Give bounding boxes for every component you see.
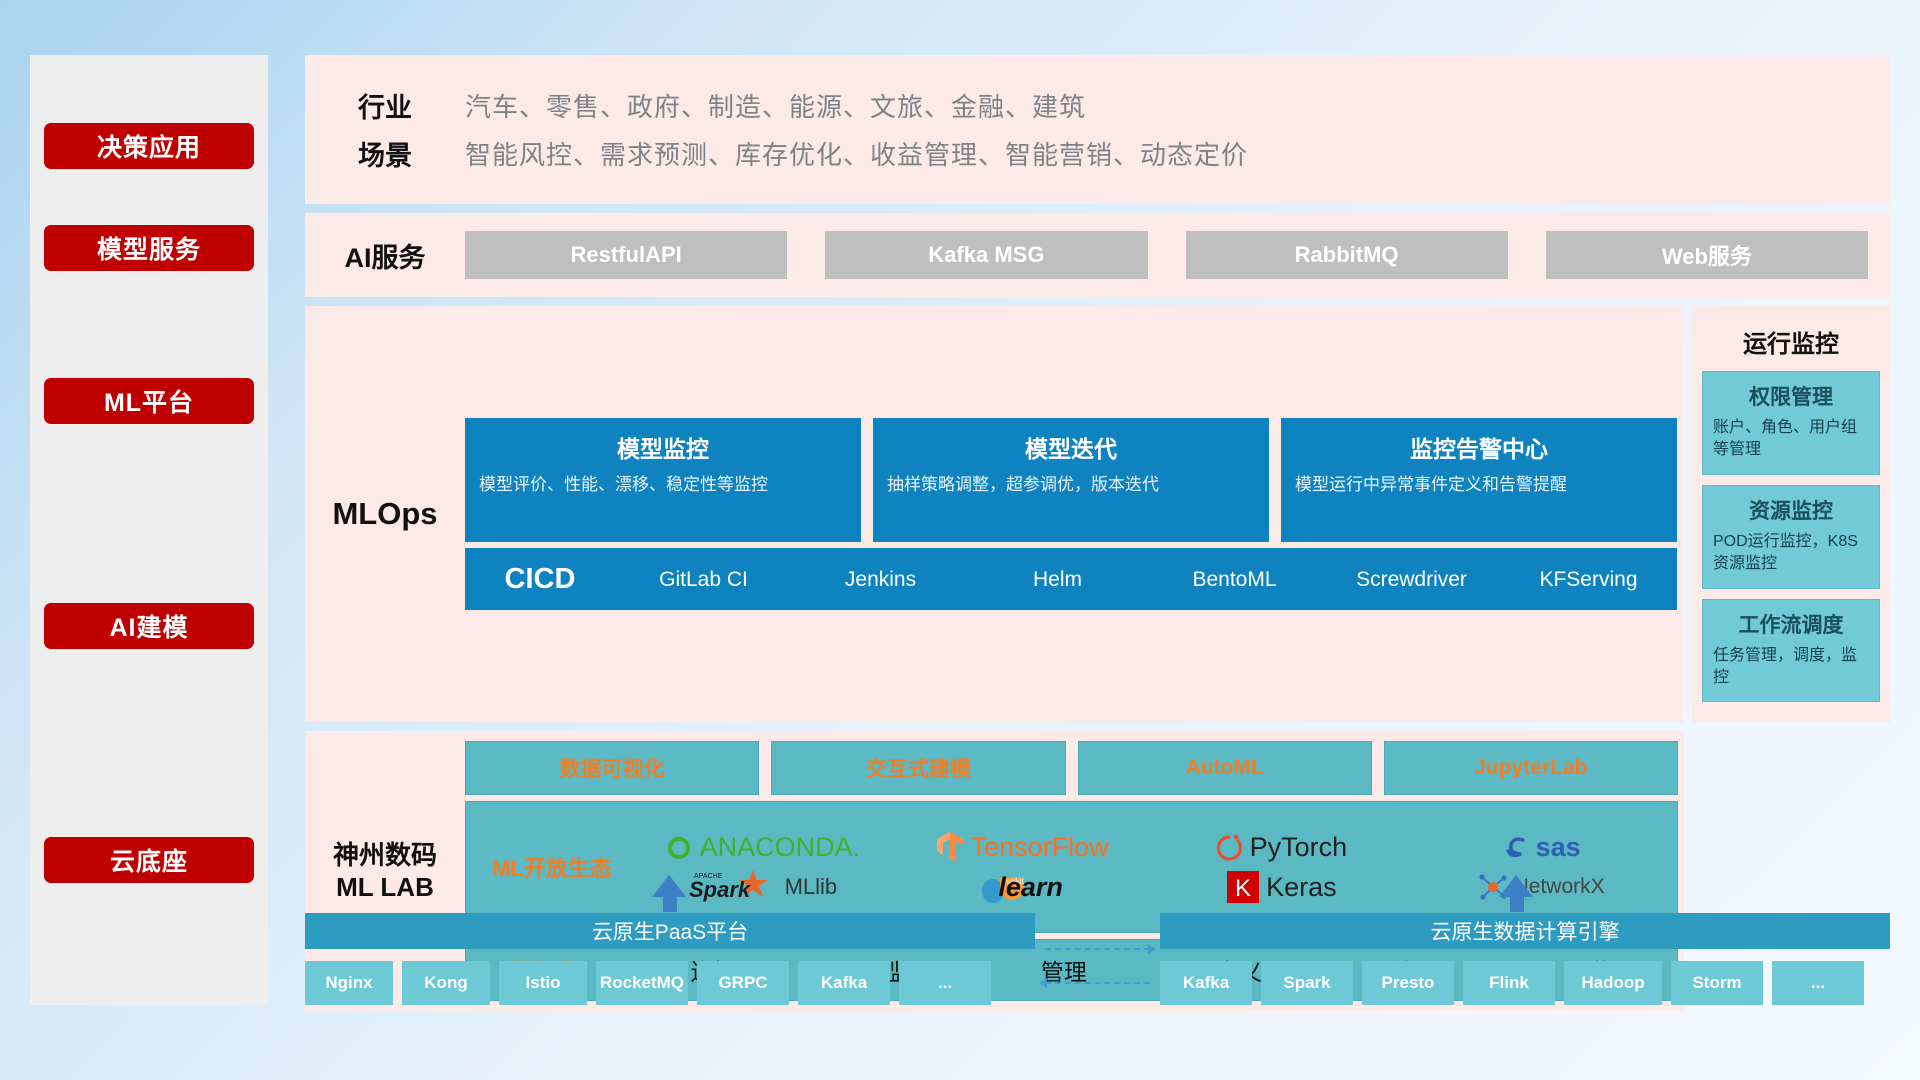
- dash-arrow-left-head: [1039, 978, 1047, 988]
- card-desc: 模型评价、性能、漂移、稳定性等监控: [479, 473, 847, 498]
- layer-rail: 决策应用 模型服务 ML平台 AI建模 云底座: [30, 55, 268, 1005]
- engine-group: 云原生数据计算引擎 Kafka Spark Presto Flink Hadoo…: [1160, 913, 1890, 1005]
- card-title: 监控告警中心: [1295, 430, 1663, 464]
- mlops-card-model-iteration[interactable]: 模型迭代 抽样策略调整，超参调优，版本迭代: [873, 418, 1269, 542]
- paas-chip-more[interactable]: ...: [899, 961, 991, 1005]
- anaconda-icon: [664, 832, 694, 862]
- card-title: 模型监控: [479, 430, 847, 464]
- pytorch-logo: PyTorch: [1216, 831, 1348, 863]
- paas-chip-nginx[interactable]: Nginx: [305, 961, 393, 1005]
- tab-interactive-modeling[interactable]: 交互式建模: [771, 741, 1065, 795]
- tensorflow-logo: TensorFlow: [935, 830, 1109, 864]
- ai-service-chips: RestfulAPI Kafka MSG RabbitMQ Web服务: [465, 231, 1890, 279]
- industry-value: 汽车、零售、政府、制造、能源、文旅、金融、建筑: [465, 87, 1086, 124]
- mlops-band: MLOps 模型监控 模型评价、性能、漂移、稳定性等监控 模型迭代 抽样策略调整…: [305, 306, 1683, 722]
- paas-title: 云原生PaaS平台: [305, 913, 1035, 949]
- mlops-label: MLOps: [305, 496, 465, 532]
- sas-icon: [1502, 833, 1530, 861]
- mlops-card-model-monitoring[interactable]: 模型监控 模型评价、性能、漂移、稳定性等监控: [465, 418, 861, 542]
- ai-service-label: AI服务: [305, 236, 465, 275]
- paas-chip-grpc[interactable]: GRPC: [697, 961, 789, 1005]
- scenario-label: 场景: [305, 134, 465, 173]
- tab-automl[interactable]: AutoML: [1078, 741, 1372, 795]
- monitor-card-permissions[interactable]: 权限管理 账户、角色、用户组等管理: [1702, 371, 1880, 475]
- dash-arrow-right-head: [1148, 944, 1156, 954]
- card-desc: 抽样策略调整，超参调优，版本迭代: [887, 473, 1255, 498]
- industry-row: 行业 汽车、零售、政府、制造、能源、文旅、金融、建筑: [305, 86, 1890, 125]
- paas-chip-istio[interactable]: Istio: [499, 961, 587, 1005]
- engine-chip-flink[interactable]: Flink: [1463, 961, 1555, 1005]
- cloud-foundation: 云原生PaaS平台 Nginx Kong Istio RocketMQ GRPC…: [305, 875, 1890, 1025]
- pytorch-icon: [1216, 831, 1244, 863]
- engine-chip-storm[interactable]: Storm: [1671, 961, 1763, 1005]
- industry-label: 行业: [305, 86, 465, 125]
- engine-chip-kafka[interactable]: Kafka: [1160, 961, 1252, 1005]
- card-title: 权限管理: [1713, 381, 1869, 411]
- rail-item-ai-modeling[interactable]: AI建模: [44, 603, 254, 649]
- service-chip-kafka-msg[interactable]: Kafka MSG: [825, 231, 1147, 279]
- scenario-row: 场景 智能风控、需求预测、库存优化、收益管理、智能营销、动态定价: [305, 134, 1890, 173]
- sas-logo: sas: [1502, 832, 1581, 863]
- anaconda-label: ANACONDA.: [700, 832, 861, 863]
- architecture-diagram: 决策应用 模型服务 ML平台 AI建模 云底座 行业 汽车、零售、政府、制造、能…: [0, 0, 1920, 1080]
- anaconda-logo: ANACONDA.: [664, 832, 861, 863]
- cicd-item-screwdriver[interactable]: Screwdriver: [1323, 569, 1500, 590]
- tensorflow-icon: [935, 830, 965, 864]
- arrow-up-engine-head: [1499, 875, 1533, 897]
- ml-lab-label-line1: 神州数码: [305, 839, 465, 872]
- rail-item-model-service[interactable]: 模型服务: [44, 225, 254, 271]
- monitor-card-workflow[interactable]: 工作流调度 任务管理，调度，监控: [1702, 599, 1880, 703]
- arrow-up-paas-head: [652, 875, 686, 897]
- service-chip-rabbitmq[interactable]: RabbitMQ: [1186, 231, 1508, 279]
- rail-item-cloud-base[interactable]: 云底座: [44, 837, 254, 883]
- ml-lab-tabs: 数据可视化 交互式建模 AutoML JupyterLab: [465, 741, 1678, 795]
- service-chip-restfulapi[interactable]: RestfulAPI: [465, 231, 787, 279]
- card-title: 工作流调度: [1713, 609, 1869, 639]
- engine-chip-more[interactable]: ...: [1772, 961, 1864, 1005]
- mlops-content: 模型监控 模型评价、性能、漂移、稳定性等监控 模型迭代 抽样策略调整，超参调优，…: [465, 418, 1683, 610]
- sas-label: sas: [1536, 832, 1581, 863]
- dash-arrow-right: [1045, 948, 1150, 950]
- paas-chip-kafka[interactable]: Kafka: [798, 961, 890, 1005]
- cicd-item-kfserving[interactable]: KFServing: [1500, 569, 1677, 590]
- card-desc: POD运行监控，K8S资源监控: [1713, 531, 1869, 576]
- service-chip-web[interactable]: Web服务: [1546, 231, 1868, 279]
- tab-data-visualization[interactable]: 数据可视化: [465, 741, 759, 795]
- engine-chip-hadoop[interactable]: Hadoop: [1564, 961, 1662, 1005]
- paas-chip-kong[interactable]: Kong: [402, 961, 490, 1005]
- rail-item-ml-platform[interactable]: ML平台: [44, 378, 254, 424]
- card-title: 资源监控: [1713, 495, 1869, 525]
- cicd-item-helm[interactable]: Helm: [969, 569, 1146, 590]
- tab-jupyterlab[interactable]: JupyterLab: [1384, 741, 1678, 795]
- paas-chip-rocketmq[interactable]: RocketMQ: [596, 961, 688, 1005]
- rail-item-decision-app[interactable]: 决策应用: [44, 123, 254, 169]
- runtime-monitor-title: 运行监控: [1702, 314, 1880, 371]
- paas-chips: Nginx Kong Istio RocketMQ GRPC Kafka ...: [305, 961, 1035, 1005]
- card-desc: 账户、角色、用户组等管理: [1713, 417, 1869, 462]
- arrow-up-paas-stem: [663, 896, 677, 912]
- cicd-item-jenkins[interactable]: Jenkins: [792, 569, 969, 590]
- cicd-item-bentoml[interactable]: BentoML: [1146, 569, 1323, 590]
- card-desc: 模型运行中异常事件定义和告警提醒: [1295, 473, 1663, 498]
- dash-arrow-left: [1045, 982, 1150, 984]
- cicd-item-gitlab-ci[interactable]: GitLab CI: [615, 569, 792, 590]
- engine-chips: Kafka Spark Presto Flink Hadoop Storm ..…: [1160, 961, 1890, 1005]
- card-title: 模型迭代: [887, 430, 1255, 464]
- ml-platform-row: MLOps 模型监控 模型评价、性能、漂移、稳定性等监控 模型迭代 抽样策略调整…: [305, 306, 1890, 722]
- mlops-cards: 模型监控 模型评价、性能、漂移、稳定性等监控 模型迭代 抽样策略调整，超参调优，…: [465, 418, 1677, 542]
- ai-service-band: AI服务 RestfulAPI Kafka MSG RabbitMQ Web服务: [305, 213, 1890, 297]
- cicd-title: CICD: [465, 563, 615, 596]
- cicd-bar: CICD GitLab CI Jenkins Helm BentoML Scre…: [465, 548, 1677, 610]
- cicd-items: GitLab CI Jenkins Helm BentoML Screwdriv…: [615, 569, 1677, 590]
- pytorch-label: PyTorch: [1250, 832, 1348, 863]
- engine-title: 云原生数据计算引擎: [1160, 913, 1890, 949]
- paas-group: 云原生PaaS平台 Nginx Kong Istio RocketMQ GRPC…: [305, 913, 1035, 1005]
- engine-chip-spark[interactable]: Spark: [1261, 961, 1353, 1005]
- engine-chip-presto[interactable]: Presto: [1362, 961, 1454, 1005]
- decision-app-band: 行业 汽车、零售、政府、制造、能源、文旅、金融、建筑 场景 智能风控、需求预测、…: [305, 55, 1890, 204]
- mlops-card-alert-center[interactable]: 监控告警中心 模型运行中异常事件定义和告警提醒: [1281, 418, 1677, 542]
- monitor-card-resources[interactable]: 资源监控 POD运行监控，K8S资源监控: [1702, 485, 1880, 589]
- runtime-monitor-panel: 运行监控 权限管理 账户、角色、用户组等管理 资源监控 POD运行监控，K8S资…: [1692, 306, 1890, 722]
- arrow-up-engine-stem: [1510, 896, 1524, 912]
- card-desc: 任务管理，调度，监控: [1713, 645, 1869, 690]
- tensorflow-label: TensorFlow: [971, 832, 1109, 863]
- scenario-value: 智能风控、需求预测、库存优化、收益管理、智能营销、动态定价: [465, 135, 1248, 172]
